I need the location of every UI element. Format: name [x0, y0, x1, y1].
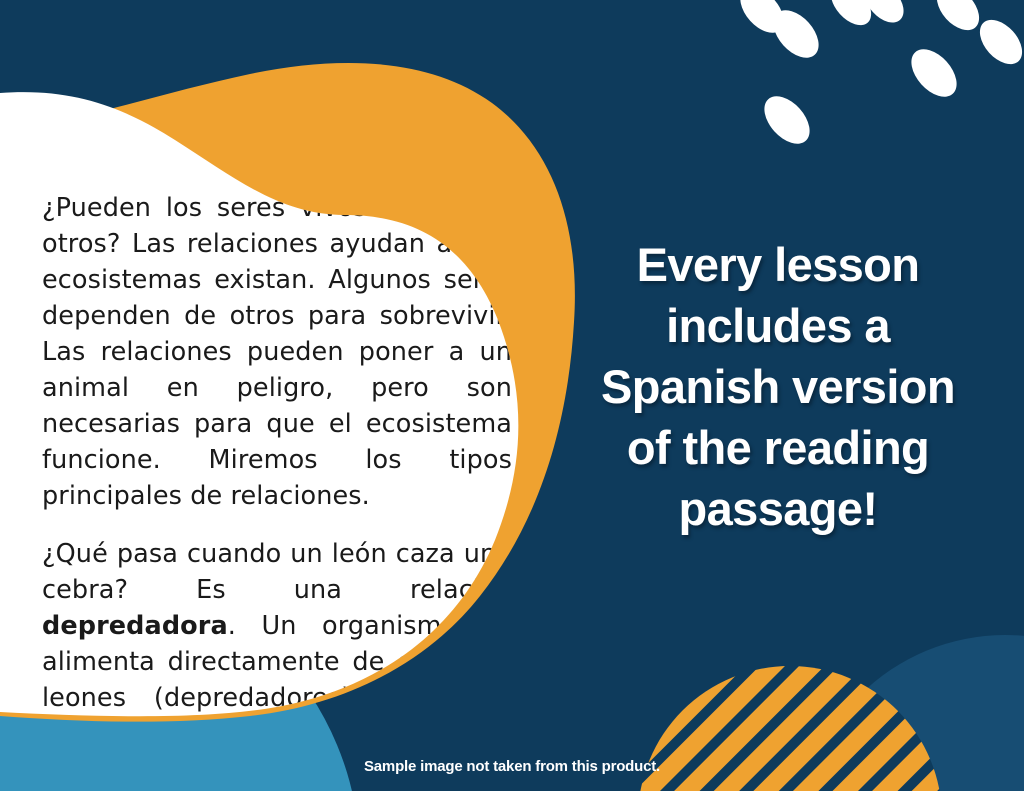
poster-canvas: ¿Pueden los seres vivos existir sin otro…: [0, 0, 1024, 791]
headline-line-5: passage!: [566, 478, 990, 539]
footer-caption: Sample image not taken from this product…: [0, 758, 1024, 775]
headline-line-3: Spanish version: [566, 356, 990, 417]
headline: Every lesson includes a Spanish version …: [566, 234, 990, 539]
headline-line-2: includes a: [566, 295, 990, 356]
headline-line-1: Every lesson: [566, 234, 990, 295]
headline-line-4: of the reading: [566, 417, 990, 478]
